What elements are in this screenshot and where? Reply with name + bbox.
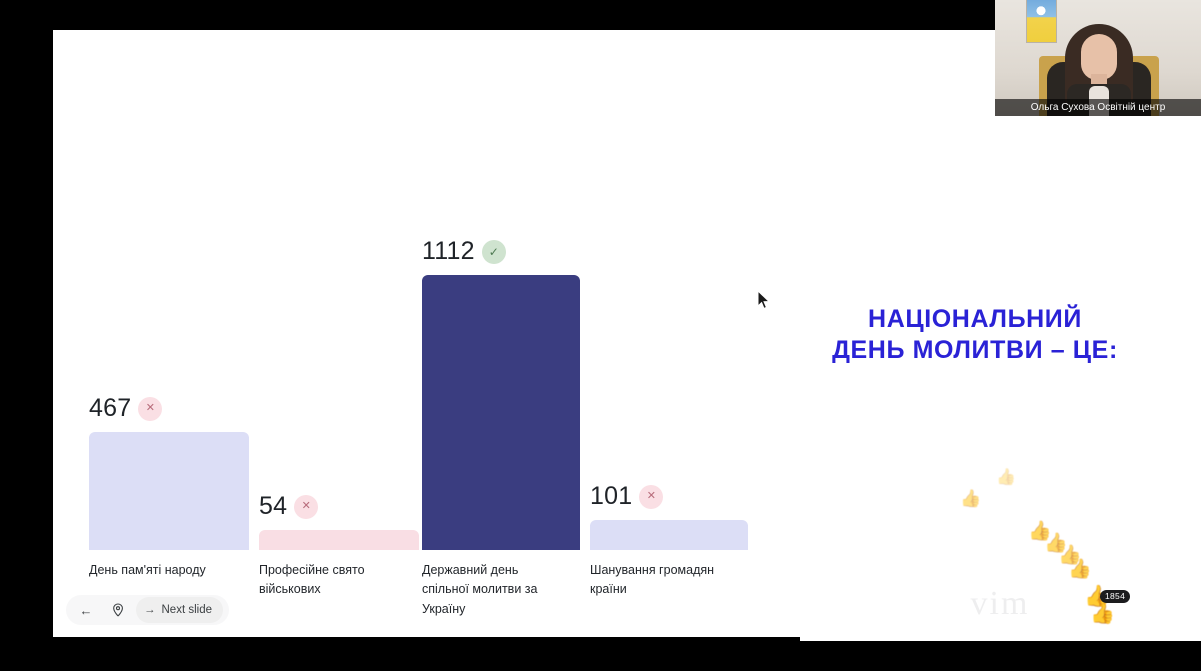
- x-icon: ✕: [639, 485, 663, 509]
- bar-column: 467 ✕ День пам'яті народу: [89, 432, 249, 550]
- back-arrow-icon[interactable]: ←: [72, 596, 100, 624]
- bar-value: 467: [89, 396, 131, 421]
- thumbs-up-icon: 👍: [960, 490, 981, 507]
- bar-value: 101: [590, 484, 632, 509]
- bar-value-group: 1112 ✓: [422, 239, 506, 264]
- bar-value-group: 54 ✕: [259, 494, 318, 519]
- next-arrow-icon: →: [144, 604, 156, 616]
- bar-rect: [89, 432, 249, 550]
- poll-bar-chart: 467 ✕ День пам'яті народу 54 ✕ Професійн…: [53, 30, 800, 637]
- location-pin-icon[interactable]: [104, 596, 132, 624]
- thumbs-up-icon: 👍: [1068, 560, 1092, 579]
- bar-column: 1112 ✓ Державний день спільної молитви з…: [422, 275, 580, 550]
- reaction-count-badge: 1854: [1100, 590, 1130, 603]
- bar-value-group: 101 ✕: [590, 484, 663, 509]
- shared-slide-left: 467 ✕ День пам'яті народу 54 ✕ Професійн…: [53, 30, 800, 637]
- participant-name-label: Ольга Сухова Освітній центр: [995, 99, 1201, 116]
- x-icon: ✕: [138, 397, 162, 421]
- slide-nav-toolbar: ← → Next slide: [66, 595, 229, 625]
- wall-poster: [1026, 0, 1057, 43]
- bar-value-group: 467 ✕: [89, 396, 162, 421]
- reaction-animation-layer: 👍 👍 👍 👍 👍 👍 👍 👍 1854: [800, 30, 1201, 641]
- participant-video-tile[interactable]: Ольга Сухова Освітній центр: [995, 0, 1201, 116]
- bar-column: 54 ✕ Професійне свято військових: [259, 530, 419, 550]
- next-slide-label: Next slide: [162, 604, 213, 616]
- bar-value: 1112: [422, 239, 475, 264]
- bar-value: 54: [259, 494, 287, 519]
- bar-column: 101 ✕ Шанування громадян країни: [590, 520, 748, 550]
- bar-label: День пам'яті народу: [89, 561, 224, 580]
- bar-label: Шанування громадян країни: [590, 561, 725, 600]
- shared-slide-right: НАЦІОНАЛЬНИЙ ДЕНЬ МОЛИТВИ – ЦЕ: vim 👍 👍 …: [800, 30, 1201, 641]
- bar-rect: [590, 520, 748, 550]
- check-icon: ✓: [482, 240, 506, 264]
- bar-rect: [259, 530, 419, 550]
- bar-label: Професійне свято військових: [259, 561, 394, 600]
- thumbs-up-icon: 👍: [1090, 604, 1115, 624]
- screen: 467 ✕ День пам'яті народу 54 ✕ Професійн…: [0, 0, 1201, 671]
- x-icon: ✕: [294, 495, 318, 519]
- next-slide-button[interactable]: → Next slide: [136, 597, 223, 623]
- bar-label: Державний день спільної молитви за Украї…: [422, 561, 557, 619]
- thumbs-up-icon: 👍: [996, 470, 1016, 486]
- bar-rect: [422, 275, 580, 550]
- mouse-cursor: [757, 290, 771, 310]
